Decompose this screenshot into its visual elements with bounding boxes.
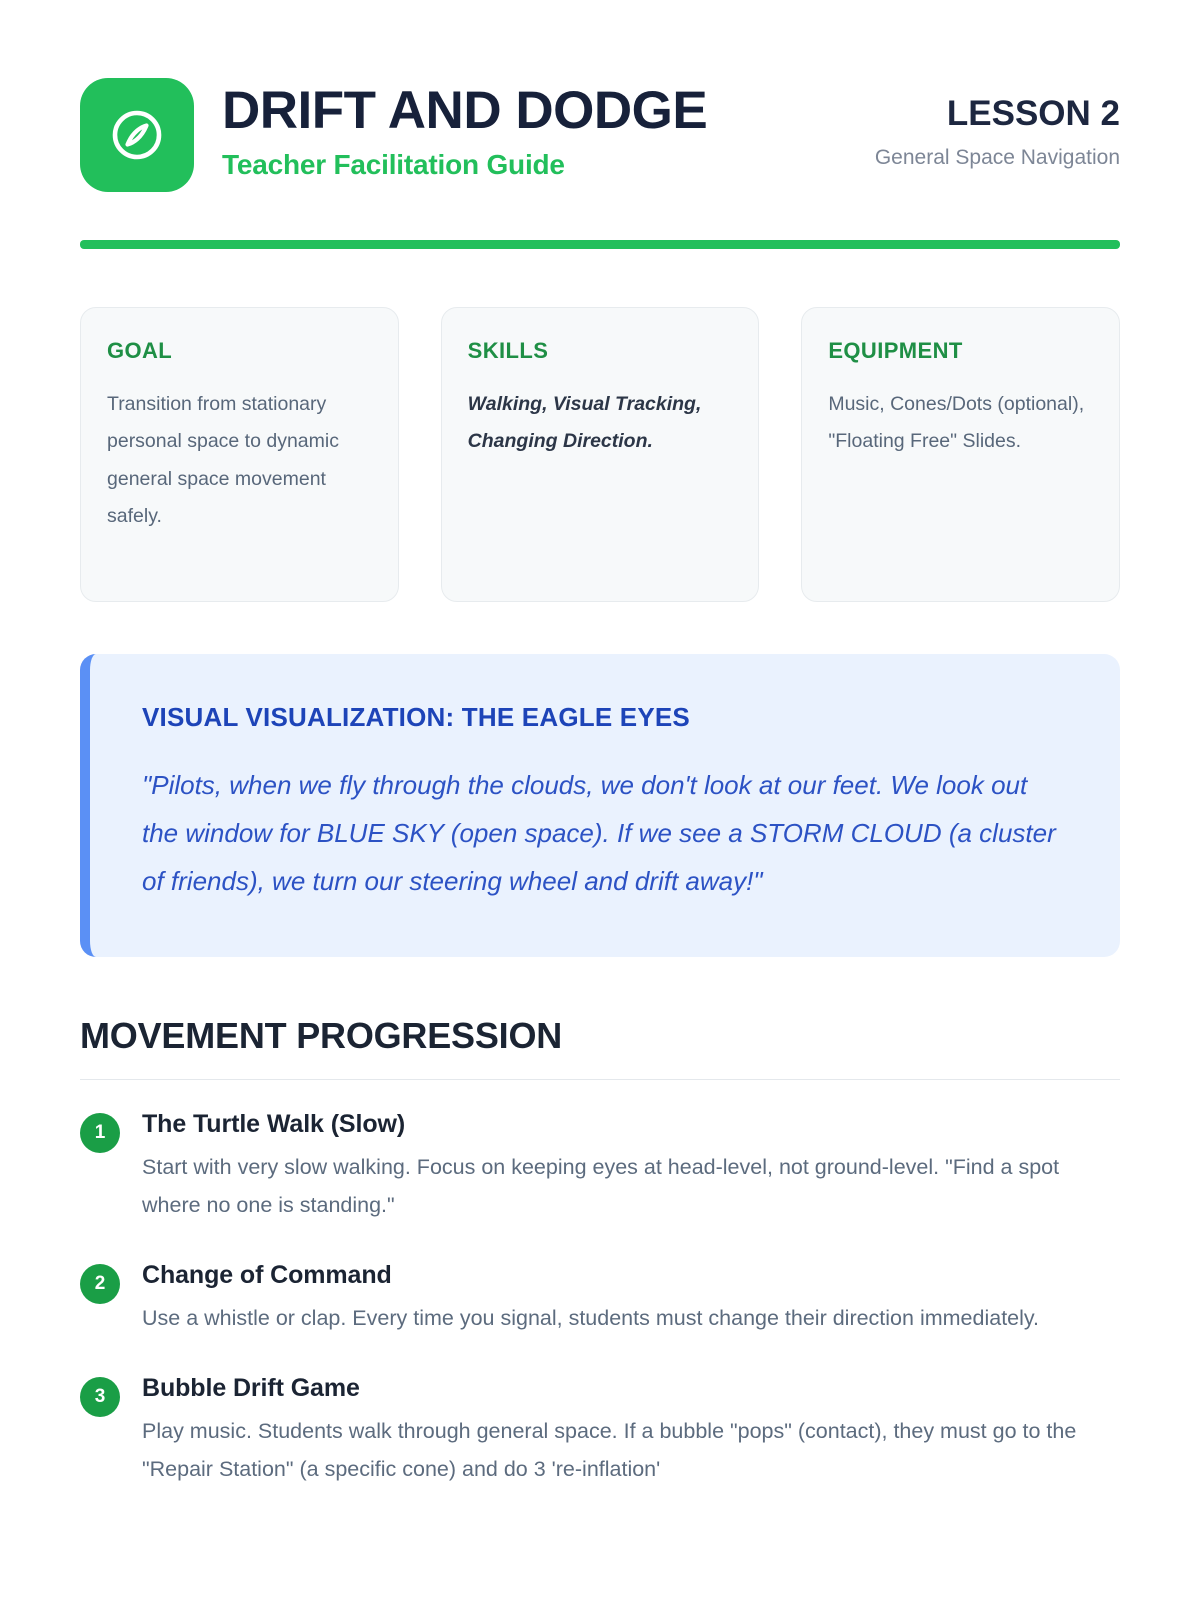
lesson-topic-label: General Space Navigation (875, 146, 1120, 170)
step-content: Bubble Drift Game Play music. Students w… (142, 1374, 1120, 1489)
step-number-badge: 3 (80, 1377, 120, 1417)
callout-body: "Pilots, when we fly through the clouds,… (142, 761, 1068, 905)
lesson-block: LESSON 2 General Space Navigation (875, 78, 1120, 170)
step-description: Play music. Students walk through genera… (142, 1413, 1120, 1489)
card-title: SKILLS (468, 338, 733, 364)
step-title: Bubble Drift Game (142, 1374, 1120, 1403)
card-title: GOAL (107, 338, 372, 364)
card-body: Transition from stationary personal spac… (107, 386, 372, 536)
section-divider (80, 1079, 1120, 1080)
section-title: MOVEMENT PROGRESSION (80, 1015, 1120, 1057)
info-cards: GOAL Transition from stationary personal… (80, 307, 1120, 602)
app-logo (80, 78, 194, 192)
movement-progression-section: MOVEMENT PROGRESSION 1 The Turtle Walk (… (80, 1015, 1120, 1488)
list-item: 2 Change of Command Use a whistle or cla… (80, 1261, 1120, 1338)
step-title: Change of Command (142, 1261, 1120, 1290)
progression-steps: 1 The Turtle Walk (Slow) Start with very… (80, 1110, 1120, 1488)
step-content: Change of Command Use a whistle or clap.… (142, 1261, 1120, 1338)
page-title: DRIFT AND DODGE (222, 84, 847, 138)
title-block: DRIFT AND DODGE Teacher Facilitation Gui… (222, 78, 847, 181)
callout-title: VISUAL VISUALIZATION: THE EAGLE EYES (142, 702, 1068, 733)
step-number-badge: 2 (80, 1264, 120, 1304)
compass-icon (108, 106, 166, 164)
list-item: 3 Bubble Drift Game Play music. Students… (80, 1374, 1120, 1489)
info-card-skills: SKILLS Walking, Visual Tracking, Changin… (441, 307, 760, 602)
visualization-callout: VISUAL VISUALIZATION: THE EAGLE EYES "Pi… (80, 654, 1120, 957)
step-description: Use a whistle or clap. Every time you si… (142, 1300, 1120, 1338)
info-card-equipment: EQUIPMENT Music, Cones/Dots (optional), … (801, 307, 1120, 602)
lesson-number-label: LESSON 2 (875, 94, 1120, 134)
step-title: The Turtle Walk (Slow) (142, 1110, 1120, 1139)
page-header: DRIFT AND DODGE Teacher Facilitation Gui… (80, 78, 1120, 196)
step-content: The Turtle Walk (Slow) Start with very s… (142, 1110, 1120, 1225)
card-title: EQUIPMENT (828, 338, 1093, 364)
step-number-badge: 1 (80, 1113, 120, 1153)
page-subtitle: Teacher Facilitation Guide (222, 149, 847, 181)
info-card-goal: GOAL Transition from stationary personal… (80, 307, 399, 602)
step-description: Start with very slow walking. Focus on k… (142, 1149, 1120, 1225)
card-body: Music, Cones/Dots (optional), "Floating … (828, 386, 1093, 461)
header-accent-bar (80, 240, 1120, 249)
card-body: Walking, Visual Tracking, Changing Direc… (468, 386, 733, 461)
list-item: 1 The Turtle Walk (Slow) Start with very… (80, 1110, 1120, 1225)
lesson-plan-page: DRIFT AND DODGE Teacher Facilitation Gui… (0, 0, 1200, 1600)
